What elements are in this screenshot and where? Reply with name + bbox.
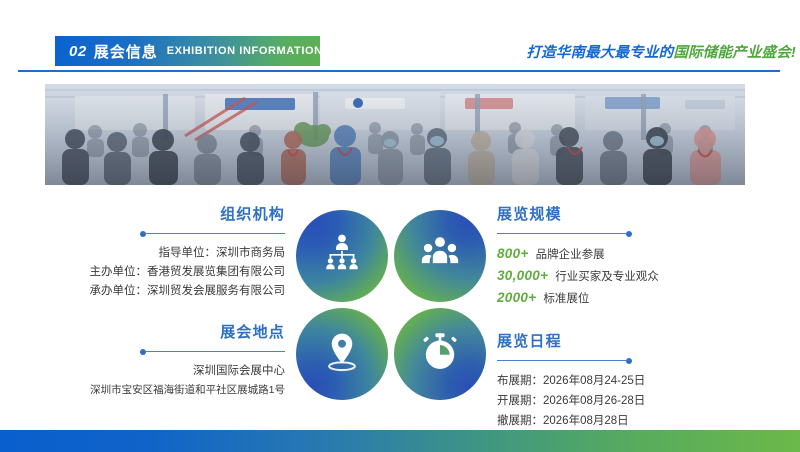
schedule-line: 布展期：2026年08月24-25日 (497, 371, 782, 391)
section-title-cn: 展会信息 (94, 41, 158, 62)
schedule-line: 开展期：2026年08月26-28日 (497, 391, 782, 411)
people-group-circle (394, 210, 486, 302)
column-spacer (497, 310, 782, 332)
right-info-column: 展览规模 800+品牌企业参展 30,000+行业买家及专业观众 2000+标准… (497, 205, 782, 431)
left-info-column: 组织机构 指导单位：深圳市商务局 主办单位：香港贸发展览集团有限公司 承办单位：… (20, 205, 285, 400)
icon-circle-grid (296, 210, 486, 400)
divider-line (146, 233, 285, 234)
scale-label: 行业买家及专业观众 (555, 271, 659, 283)
section-header-bar: 02 展会信息 EXHIBITION INFORMATION (55, 36, 320, 66)
org-chart-icon (320, 232, 364, 276)
stopwatch-circle (394, 308, 486, 400)
section-number: 02 (69, 43, 87, 60)
schedule-line: 撤展期：2026年08月28日 (497, 411, 782, 431)
scale-number: 2000+ (497, 290, 536, 305)
divider-line (497, 360, 626, 361)
schedule-divider (497, 356, 632, 365)
scale-item: 800+品牌企业参展 (497, 244, 782, 265)
location-pin-circle (296, 308, 388, 400)
column-spacer (20, 301, 285, 323)
venue-block: 展会地点 深圳国际会展中心 深圳市宝安区福海街道和平社区展城路1号 (20, 323, 285, 400)
tagline-green-text: 国际储能产业盛会! (673, 45, 796, 61)
venue-name: 深圳国际会展中心 (20, 362, 285, 381)
venue-address: 深圳市宝安区福海街道和平社区展城路1号 (20, 381, 285, 400)
organizer-line: 主办单位：香港贸发展览集团有限公司 (20, 263, 285, 282)
venue-divider (140, 347, 285, 356)
scale-label: 品牌企业参展 (536, 249, 605, 261)
scale-item: 2000+标准展位 (497, 288, 782, 309)
org-chart-circle (296, 210, 388, 302)
schedule-title: 展览日程 (497, 332, 782, 352)
exhibition-hall-crowd-photo (45, 84, 745, 185)
organizers-divider (140, 229, 285, 238)
footer-gradient-bar (0, 430, 800, 452)
organizer-line: 指导单位：深圳市商务局 (20, 244, 285, 263)
organizer-line: 承办单位：深圳贸发会展服务有限公司 (20, 282, 285, 301)
divider-dot (626, 358, 632, 364)
scale-number: 800+ (497, 246, 529, 261)
stopwatch-icon (418, 330, 462, 374)
divider-line (146, 351, 285, 352)
header-tagline: 打造华南最大最专业的国际储能产业盛会! (526, 41, 796, 62)
scale-number: 30,000+ (497, 268, 548, 283)
scale-divider (497, 229, 632, 238)
header-divider-rule (18, 70, 780, 72)
scale-title: 展览规模 (497, 205, 782, 225)
schedule-block: 展览日程 布展期：2026年08月24-25日 开展期：2026年08月26-2… (497, 332, 782, 431)
section-title-en: EXHIBITION INFORMATION (167, 45, 323, 57)
divider-line (497, 233, 626, 234)
scale-label: 标准展位 (543, 293, 589, 305)
people-group-icon (418, 232, 462, 276)
divider-dot (626, 231, 632, 237)
organizers-block: 组织机构 指导单位：深圳市商务局 主办单位：香港贸发展览集团有限公司 承办单位：… (20, 205, 285, 301)
venue-title: 展会地点 (20, 323, 285, 343)
scale-item: 30,000+行业买家及专业观众 (497, 266, 782, 287)
location-pin-icon (320, 330, 364, 374)
slide-root: 02 展会信息 EXHIBITION INFORMATION 打造华南最大最专业… (0, 0, 800, 452)
exhibition-photo-banner (45, 84, 745, 185)
tagline-blue-text: 打造华南最大最专业的 (526, 45, 673, 61)
organizers-title: 组织机构 (20, 205, 285, 225)
scale-block: 展览规模 800+品牌企业参展 30,000+行业买家及专业观众 2000+标准… (497, 205, 782, 309)
